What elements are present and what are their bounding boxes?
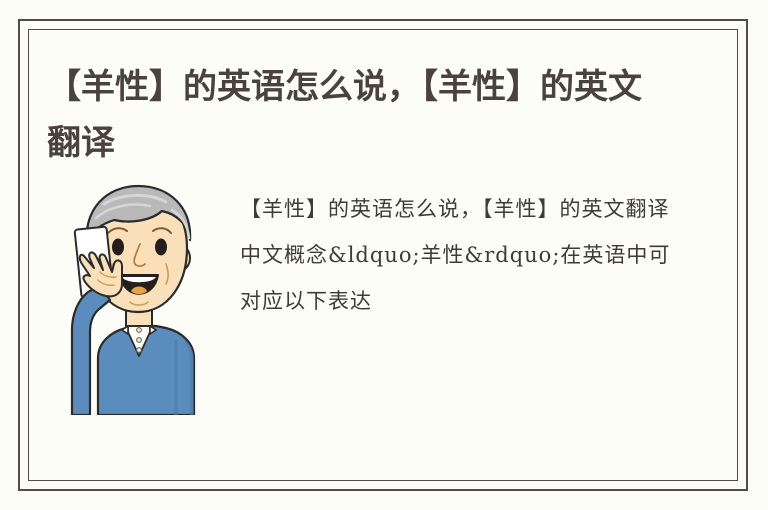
article-body-text: 【羊性】的英语怎么说，【羊性】的英文翻译中文概念&ldquo;羊性&rdquo;… — [240, 186, 688, 324]
page-title: 【羊性】的英语怎么说，【羊性】的英文翻译 — [47, 59, 667, 171]
article-content-row: 【羊性】的英语怎么说，【羊性】的英文翻译中文概念&ldquo;羊性&rdquo;… — [40, 172, 742, 422]
article-illustration — [56, 180, 222, 415]
elderly-man-on-phone-icon — [56, 180, 222, 415]
